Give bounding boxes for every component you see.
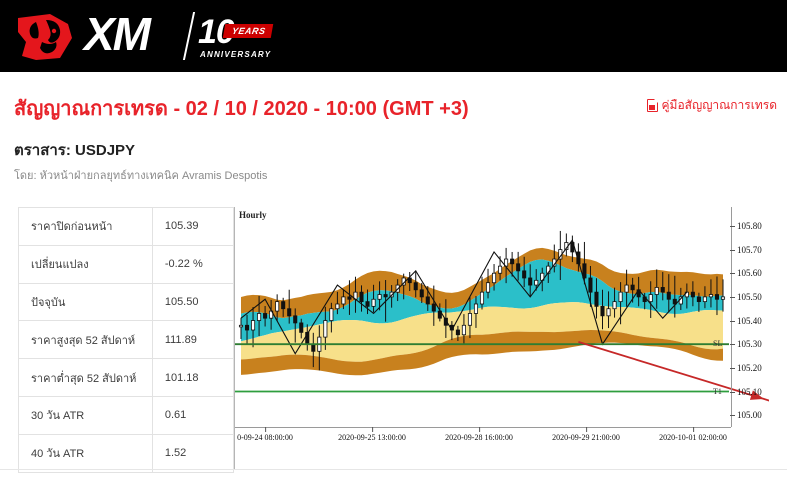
- stat-value: 101.18: [152, 359, 233, 397]
- y-axis-tick-label: 105.60: [737, 268, 762, 278]
- y-axis-tick-label: 105.70: [737, 245, 762, 255]
- x-tick-mark: [586, 427, 587, 432]
- page-title: สัญญาณการเทรด - 02 / 10 / 2020 - 10:00 (…: [14, 92, 469, 124]
- y-axis-tick-label: 105.80: [737, 221, 762, 231]
- y-tick-mark: [730, 273, 735, 274]
- stat-value: 105.50: [152, 283, 233, 321]
- y-tick-mark: [730, 392, 735, 393]
- x-tick-mark: [693, 427, 694, 432]
- y-tick-mark: [730, 321, 735, 322]
- pdf-link-label: คู่มือสัญญาณการเทรด: [662, 96, 778, 115]
- x-axis-tick-label: 2020-10-01 02:00:00: [659, 433, 727, 442]
- anniversary-badge: 10 YEARS ANNIVERSARY: [198, 14, 278, 66]
- stat-value: 111.89: [152, 321, 233, 359]
- trading-signals-guide-link[interactable]: คู่มือสัญญาณการเทรด: [647, 96, 778, 115]
- xm-logo[interactable]: XM 10 YEARS ANNIVERSARY: [16, 8, 266, 66]
- y-tick-mark: [730, 250, 735, 251]
- price-chart[interactable]: Hourly 105.80105.70105.60105.50105.40105…: [234, 207, 769, 469]
- chart-canvas: [235, 207, 769, 469]
- xm-bull-logo-icon: [16, 12, 80, 62]
- y-axis-tick-label: 105.30: [737, 339, 762, 349]
- y-axis-tick-label: 105.50: [737, 292, 762, 302]
- y-tick-mark: [730, 226, 735, 227]
- footer-divider: [0, 469, 787, 470]
- chart-y-axis: [731, 207, 732, 427]
- stat-label: ราคาปิดก่อนหน้า: [19, 208, 153, 246]
- table-row: ปัจจุบัน105.50: [19, 283, 234, 321]
- table-row: 40 วัน ATR1.52: [19, 434, 234, 472]
- instrument-stats-table: ราคาปิดก่อนหน้า105.39เปลี่ยนแปลง-0.22 %ป…: [18, 207, 234, 473]
- stat-value: 0.61: [152, 396, 233, 434]
- anniversary-word: ANNIVERSARY: [200, 50, 271, 59]
- anniversary-years-ribbon: YEARS: [223, 24, 273, 38]
- y-axis-tick-label: 105.10: [737, 387, 762, 397]
- x-axis-tick-label: 0-09-24 08:00:00: [237, 433, 293, 442]
- logo-divider: [183, 12, 195, 60]
- instrument-label: ตราสาร: USDJPY: [14, 138, 135, 162]
- table-row: เปลี่ยนแปลง-0.22 %: [19, 245, 234, 283]
- chart-timeframe-label: Hourly: [239, 210, 267, 220]
- table-row: ราคาปิดก่อนหน้า105.39: [19, 208, 234, 246]
- stat-value: -0.22 %: [152, 245, 233, 283]
- y-tick-mark: [730, 297, 735, 298]
- stat-label: ปัจจุบัน: [19, 283, 153, 321]
- table-body: ราคาปิดก่อนหน้า105.39เปลี่ยนแปลง-0.22 %ป…: [19, 208, 234, 473]
- table-row: 30 วัน ATR0.61: [19, 396, 234, 434]
- table-row: ราคาต่ำสุด 52 สัปดาห์101.18: [19, 359, 234, 397]
- stat-label: 40 วัน ATR: [19, 434, 153, 472]
- stat-label: เปลี่ยนแปลง: [19, 245, 153, 283]
- site-header: XM 10 YEARS ANNIVERSARY: [0, 0, 787, 72]
- y-axis-tick-label: 105.00: [737, 410, 762, 420]
- y-tick-mark: [730, 368, 735, 369]
- table-row: ราคาสูงสุด 52 สัปดาห์111.89: [19, 321, 234, 359]
- stat-value: 105.39: [152, 208, 233, 246]
- y-axis-tick-label: 105.40: [737, 316, 762, 326]
- stat-value: 1.52: [152, 434, 233, 472]
- y-tick-mark: [730, 415, 735, 416]
- stat-label: ราคาต่ำสุด 52 สัปดาห์: [19, 359, 153, 397]
- level-tag-sl: SL: [713, 339, 722, 348]
- y-axis-tick-label: 105.20: [737, 363, 762, 373]
- stat-label: ราคาสูงสุด 52 สัปดาห์: [19, 321, 153, 359]
- x-tick-mark: [372, 427, 373, 432]
- level-tag-t1: T1: [713, 387, 722, 396]
- x-axis-tick-label: 2020-09-25 13:00:00: [338, 433, 406, 442]
- x-tick-mark: [265, 427, 266, 432]
- y-tick-mark: [730, 344, 735, 345]
- pdf-icon: [647, 99, 658, 112]
- logo-wordmark: XM: [84, 6, 149, 62]
- x-axis-tick-label: 2020-09-29 21:00:00: [552, 433, 620, 442]
- x-tick-mark: [479, 427, 480, 432]
- chart-x-axis: [235, 427, 731, 428]
- stat-label: 30 วัน ATR: [19, 396, 153, 434]
- byline: โดย: หัวหน้าฝ่ายกลยุทธ์ทางเทคนิค Avramis…: [14, 166, 267, 184]
- x-axis-tick-label: 2020-09-28 16:00:00: [445, 433, 513, 442]
